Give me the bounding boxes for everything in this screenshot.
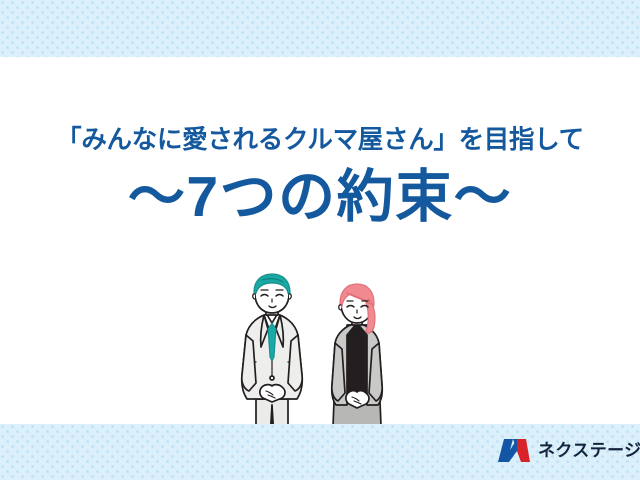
staff-illustration <box>237 271 413 439</box>
promise-banner: 「みんなに愛されるクルマ屋さん」を目指して 〜7つの約束〜 <box>0 0 640 480</box>
brand-logo-text: ネクステージ <box>538 442 640 459</box>
heading-group: 「みんなに愛されるクルマ屋さん」を目指して 〜7つの約束〜 <box>0 57 640 226</box>
female-staff-figure <box>332 284 383 439</box>
male-staff-figure <box>242 274 303 439</box>
brand-logo: ネクステージ <box>497 437 640 463</box>
main-title-text: 〜7つの約束〜 <box>0 155 640 226</box>
subtitle-text: 「みんなに愛されるクルマ屋さん」を目指して <box>0 57 640 155</box>
top-dot-band <box>0 0 640 57</box>
nextage-n-logo-icon <box>497 437 531 463</box>
